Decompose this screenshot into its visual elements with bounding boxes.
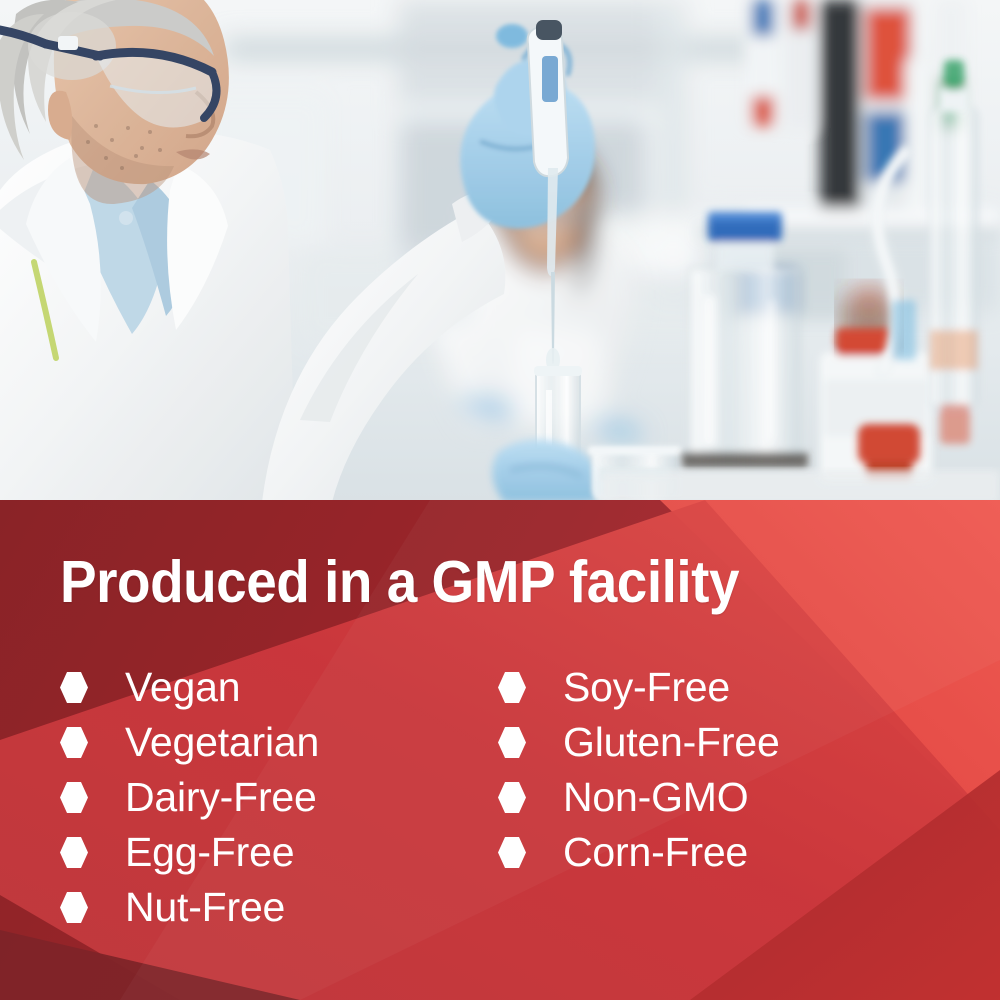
list-item-label: Egg-Free (125, 832, 294, 873)
list-item-label: Gluten-Free (563, 722, 780, 763)
hexagon-bullet-icon (498, 727, 526, 758)
list-item: Dairy-Free (60, 770, 319, 825)
gmp-facility-banner-graphic: Produced in a GMP facility Vegan Vegetar… (0, 0, 1000, 1000)
hexagon-bullet-icon (60, 837, 88, 868)
list-item: Vegan (60, 660, 319, 715)
hexagon-bullet-icon (498, 837, 526, 868)
hexagon-bullet-icon (60, 892, 88, 923)
list-item: Gluten-Free (498, 715, 780, 770)
benefits-column-left: Vegan Vegetarian Dairy-Free Egg-Free Nut… (60, 660, 319, 935)
list-item-label: Corn-Free (563, 832, 748, 873)
list-item-label: Vegan (125, 667, 240, 708)
list-item: Vegetarian (60, 715, 319, 770)
lab-photo (0, 0, 1000, 502)
hexagon-bullet-icon (60, 727, 88, 758)
benefits-column-right: Soy-Free Gluten-Free Non-GMO Corn-Free (498, 660, 780, 880)
list-item: Corn-Free (498, 825, 780, 880)
hexagon-bullet-icon (60, 672, 88, 703)
hexagon-bullet-icon (498, 782, 526, 813)
page-title: Produced in a GMP facility (60, 553, 739, 612)
list-item: Soy-Free (498, 660, 780, 715)
list-item-label: Soy-Free (563, 667, 730, 708)
list-item-label: Non-GMO (563, 777, 748, 818)
list-item: Non-GMO (498, 770, 780, 825)
hexagon-bullet-icon (498, 672, 526, 703)
list-item: Nut-Free (60, 880, 319, 935)
list-item-label: Nut-Free (125, 887, 285, 928)
red-banner-panel: Produced in a GMP facility Vegan Vegetar… (0, 500, 1000, 1000)
list-item: Egg-Free (60, 825, 319, 880)
hexagon-bullet-icon (60, 782, 88, 813)
list-item-label: Dairy-Free (125, 777, 317, 818)
list-item-label: Vegetarian (125, 722, 319, 763)
